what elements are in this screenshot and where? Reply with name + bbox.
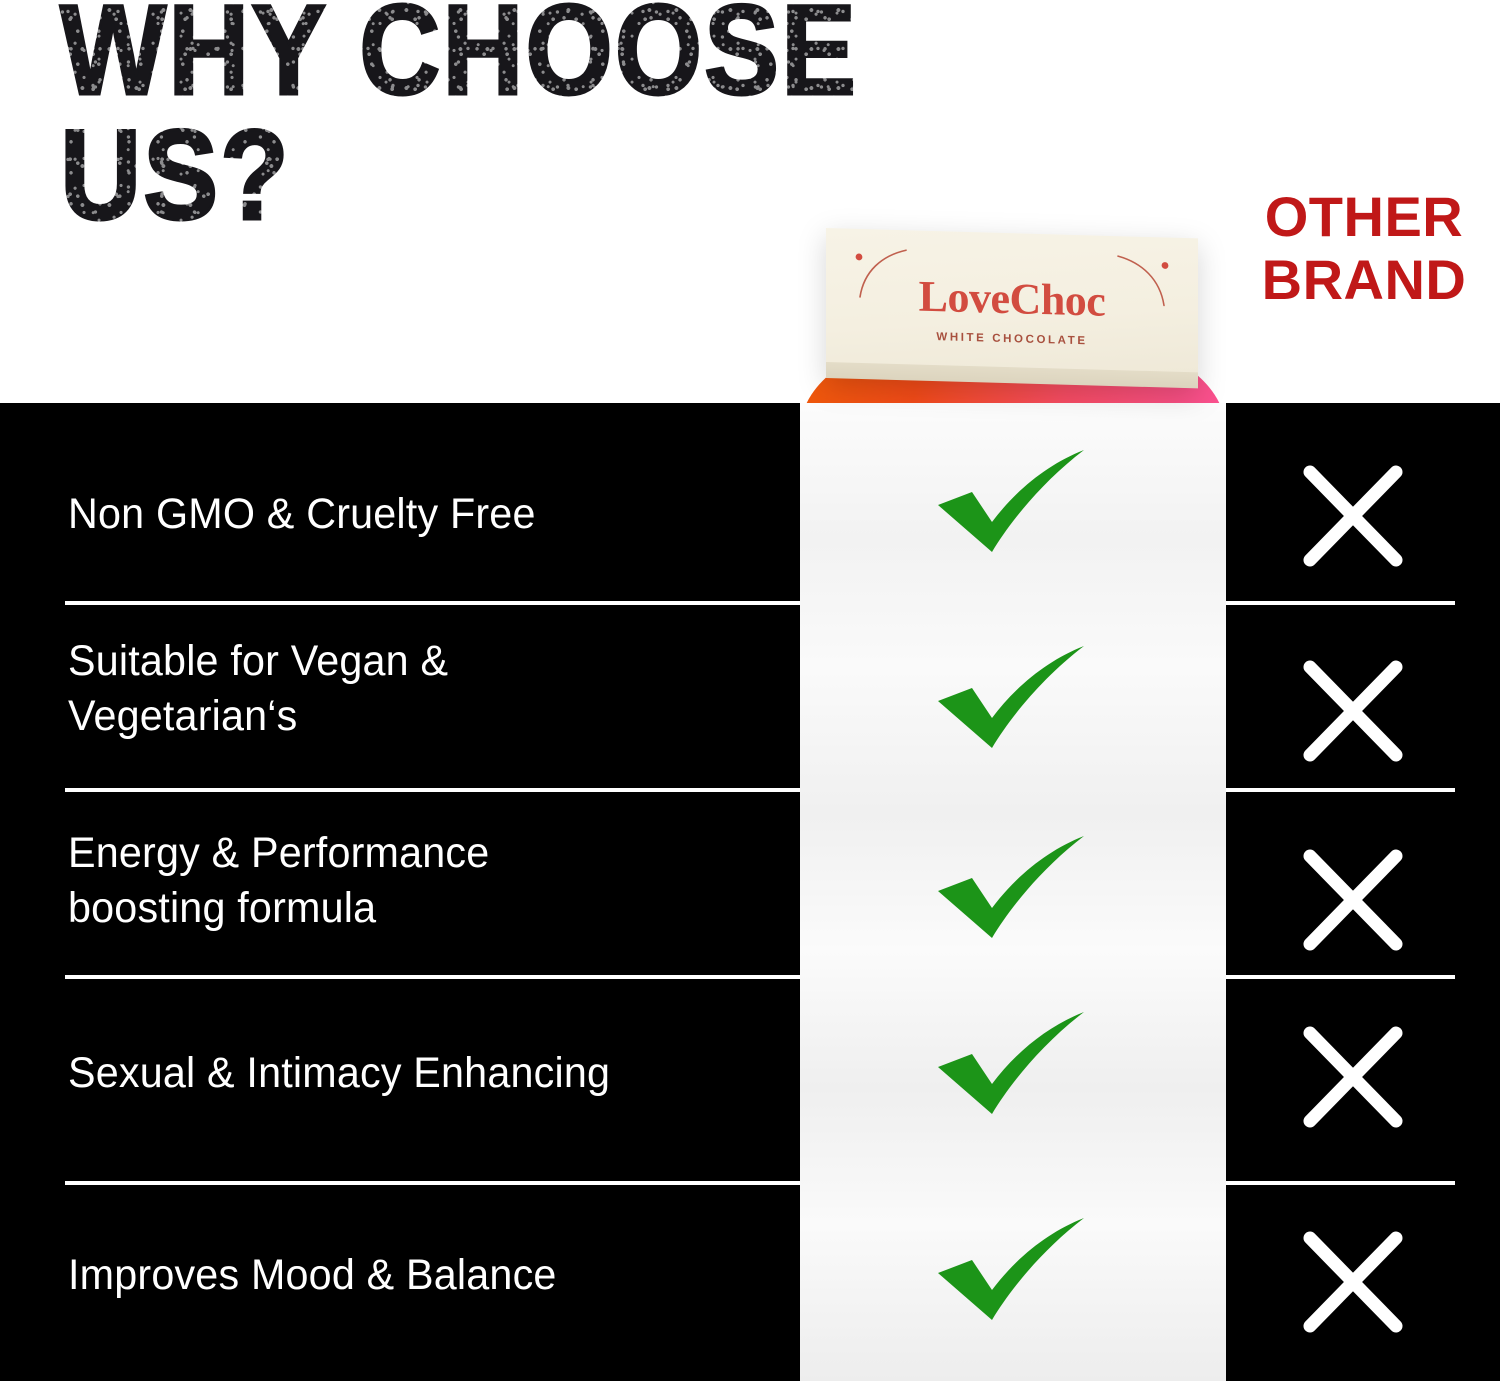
table-row-label-1: Suitable for Vegan & Vegetarian‘s [68, 634, 740, 744]
other-brand-line-1: OTHER [1228, 186, 1500, 249]
row-divider-1-left [65, 788, 800, 792]
cross-icon-row-4 [1300, 1230, 1404, 1334]
row-label-1-line-2: Vegetarian‘s [68, 692, 298, 740]
row-divider-0-right [1226, 601, 1455, 605]
cross-icon-row-3 [1300, 1025, 1404, 1129]
row-divider-2-right [1226, 975, 1455, 979]
check-icon-row-2 [930, 834, 1090, 946]
cross-icon-row-0 [1300, 464, 1404, 568]
page-title: WHY CHOOSE US? [60, 0, 782, 239]
check-icon-row-0 [930, 448, 1090, 560]
table-row-label-0: Non GMO & Cruelty Free [68, 487, 740, 542]
table-row-label-4: Improves Mood & Balance [68, 1248, 740, 1303]
row-label-1-line-1: Suitable for Vegan & [68, 637, 448, 685]
row-label-2-line-1: Energy & Performance [68, 829, 489, 877]
other-brand-line-2: BRAND [1228, 249, 1500, 312]
check-icon-row-4 [930, 1216, 1090, 1328]
table-row-label-2: Energy & Performance boosting formula [68, 826, 740, 936]
row-divider-2-left [65, 975, 800, 979]
column-header-other-brand: OTHER BRAND [1228, 186, 1500, 311]
package-variant-label: WHITE CHOCOLATE [826, 328, 1198, 350]
row-divider-3-right [1226, 1181, 1455, 1185]
table-row-label-3: Sexual & Intimacy Enhancing [68, 1046, 740, 1101]
row-divider-0-left [65, 601, 800, 605]
package-brand-name: LoveChoc [826, 272, 1198, 326]
check-icon-row-3 [930, 1010, 1090, 1122]
why-choose-us-infographic: WHY CHOOSE US? OTHER BRAND [0, 0, 1500, 1381]
page-title-line-1: WHY CHOOSE [60, 0, 782, 113]
page-title-line-2: US? [60, 113, 782, 238]
check-icon-row-1 [930, 644, 1090, 756]
row-divider-1-right [1226, 788, 1455, 792]
cross-icon-row-2 [1300, 848, 1404, 952]
package-artwork: LoveChoc WHITE CHOCOLATE [826, 228, 1198, 372]
product-package: LoveChoc WHITE CHOCOLATE [826, 228, 1198, 380]
row-label-2-line-2: boosting formula [68, 884, 376, 932]
row-divider-3-left [65, 1181, 800, 1185]
cross-icon-row-1 [1300, 659, 1404, 763]
